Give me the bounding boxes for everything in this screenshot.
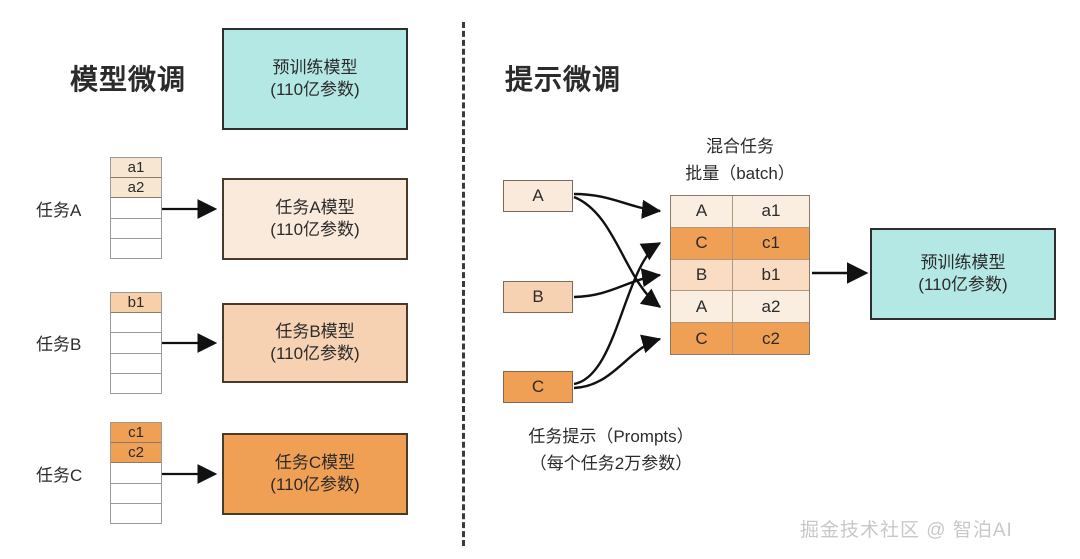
right-panel-title: 提示微调 [505,58,621,98]
task-c-model-line1: 任务C模型 [275,452,355,474]
task-b-cell-4 [111,354,161,374]
left-pretrained-model-line1: 预训练模型 [273,57,358,79]
prompts-caption-line1: 任务提示（Prompts） [496,423,726,450]
task-c-cell-2: c2 [111,443,161,463]
batch-row-5-task: C [671,323,733,354]
right-pretrained-model-line2: (110亿参数) [918,274,1007,296]
right-pretrained-model-line1: 预训练模型 [921,252,1006,274]
panel-divider [462,22,465,546]
prompts-caption: 任务提示（Prompts） （每个任务2万参数） [496,423,726,477]
prompt-pill-c-label: C [532,377,544,397]
prompts-caption-line2: （每个任务2万参数） [496,450,726,477]
task-c-stack: c1 c2 [110,422,162,524]
left-pretrained-model-line2: (110亿参数) [270,79,359,101]
task-c-label: 任务C [36,461,82,486]
task-c-model-box: 任务C模型 (110亿参数) [222,433,408,515]
batch-row-4-prompt: a2 [733,291,809,322]
batch-row-2-task: C [671,228,733,259]
diagram-canvas: 模型微调 预训练模型 (110亿参数) 任务A a1 a2 任务A模型 (110… [0,0,1080,559]
prompt-pill-a-label: A [532,186,543,206]
right-pretrained-model-box: 预训练模型 (110亿参数) [870,228,1056,320]
connector-b-to-row3 [574,275,660,297]
task-a-label: 任务A [36,196,81,221]
task-a-model-line2: (110亿参数) [270,219,359,241]
task-a-cell-5 [111,239,161,258]
task-a-stack: a1 a2 [110,157,162,259]
task-c-cell-4 [111,484,161,504]
batch-row-1-task: A [671,196,733,227]
prompt-pill-c: C [503,371,573,403]
batch-row: B b1 [671,260,809,292]
batch-row: C c2 [671,323,809,354]
task-c-cell-5 [111,504,161,523]
left-pretrained-model-box: 预训练模型 (110亿参数) [222,28,408,130]
task-b-cell-5 [111,374,161,393]
task-a-cell-3 [111,198,161,218]
task-c-cell-3 [111,463,161,483]
task-b-cell-3 [111,333,161,353]
batch-row: A a2 [671,291,809,323]
batch-row-3-task: B [671,260,733,291]
task-a-cell-1: a1 [111,158,161,178]
batch-row: C c1 [671,228,809,260]
batch-table: A a1 C c1 B b1 A a2 C c2 [670,195,810,355]
task-a-model-box: 任务A模型 (110亿参数) [222,178,408,260]
batch-row-4-task: A [671,291,733,322]
task-c-model-line2: (110亿参数) [270,474,359,496]
prompt-pill-b: B [503,281,573,313]
task-b-cell-2 [111,313,161,333]
task-b-stack: b1 [110,292,162,394]
task-a-cell-2: a2 [111,178,161,198]
batch-header-line2: 批量（batch） [655,160,825,187]
connector-a-to-row1 [574,194,660,211]
task-c-cell-1: c1 [111,423,161,443]
task-b-model-line1: 任务B模型 [275,321,354,343]
prompt-pill-a: A [503,180,573,212]
connector-c-to-row2 [574,243,660,384]
batch-row-1-prompt: a1 [733,196,809,227]
watermark: 掘金技术社区 @ 智泊AI [800,515,1013,542]
left-panel-title: 模型微调 [70,58,186,98]
task-b-cell-1: b1 [111,293,161,313]
prompt-pill-b-label: B [532,287,543,307]
batch-header-line1: 混合任务 [655,133,825,160]
connector-c-to-row5 [574,339,660,388]
batch-header: 混合任务 批量（batch） [655,133,825,187]
batch-row-2-prompt: c1 [733,228,809,259]
task-b-model-line2: (110亿参数) [270,343,359,365]
batch-row-3-prompt: b1 [733,260,809,291]
task-a-cell-4 [111,219,161,239]
task-b-model-box: 任务B模型 (110亿参数) [222,303,408,383]
task-a-model-line1: 任务A模型 [275,197,354,219]
batch-row: A a1 [671,196,809,228]
batch-row-5-prompt: c2 [733,323,809,354]
connector-a-to-row4 [574,197,660,307]
task-b-label: 任务B [36,330,81,355]
